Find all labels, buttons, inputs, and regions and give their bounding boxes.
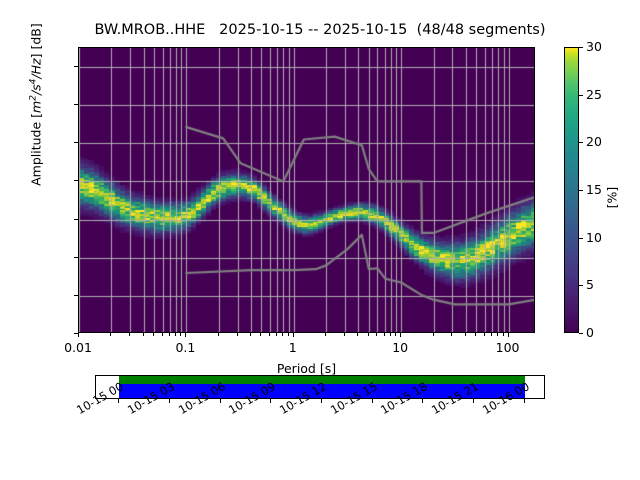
x-tick-mark-minor (497, 333, 498, 336)
x-tick-mark-minor (153, 333, 154, 336)
x-tick-label: 1 (289, 340, 297, 355)
x-tick-mark-minor (484, 333, 485, 336)
x-tick-mark-minor (260, 333, 261, 336)
x-tick-mark-minor (129, 333, 130, 336)
x-tick-mark-minor (475, 333, 476, 336)
x-tick-mark-minor (143, 333, 144, 336)
x-tick-mark-major (400, 333, 401, 337)
x-tick-mark-minor (237, 333, 238, 336)
colorbar-tick-mark (579, 238, 583, 239)
colorbar-tick-mark (579, 333, 583, 334)
x-tick-mark-minor (169, 333, 170, 336)
x-tick-mark-minor (325, 333, 326, 336)
x-tick-mark-minor (465, 333, 466, 336)
timeline-tick-mark (270, 399, 271, 403)
x-tick-mark-minor (218, 333, 219, 336)
colorbar[interactable] (564, 47, 579, 333)
timeline-tick-mark (372, 399, 373, 403)
x-tick-mark-minor (384, 333, 385, 336)
colorbar-tick-label: 30 (586, 39, 602, 54)
ppsd-figure: BW.MROB..HHE 2025-10-15 -- 2025-10-15 (4… (0, 0, 640, 480)
x-tick-mark-major (293, 333, 294, 337)
ppsd-plot-area[interactable] (78, 47, 535, 333)
x-tick-label: 0.01 (64, 340, 92, 355)
x-tick-mark-minor (282, 333, 283, 336)
y-tick-mark (74, 257, 78, 258)
y-tick-mark (74, 66, 78, 67)
x-tick-label: 10 (392, 340, 408, 355)
x-tick-mark-minor (269, 333, 270, 336)
colorbar-tick-label: 25 (586, 87, 602, 102)
y-tick-mark (74, 219, 78, 220)
y-tick-mark (74, 333, 78, 334)
x-tick-mark-minor (110, 333, 111, 336)
y-tick-mark (74, 295, 78, 296)
timeline-tick-mark (169, 399, 170, 403)
noise-model-curves-layer (79, 48, 535, 333)
timeline-tick-mark (321, 399, 322, 403)
x-axis-label: Period [s] (78, 361, 535, 376)
y-axis-label: Amplitude [m2/s4/Hz] [dB] (28, 0, 43, 245)
timeline-tick-mark (220, 399, 221, 403)
colorbar-tick-mark (579, 190, 583, 191)
timeline-tick-mark (118, 399, 119, 403)
colorbar-tick-mark (579, 142, 583, 143)
x-tick-mark-minor (357, 333, 358, 336)
x-tick-mark-minor (395, 333, 396, 336)
colorbar-tick-label: 10 (586, 230, 602, 245)
x-tick-mark-minor (390, 333, 391, 336)
x-tick-mark-minor (276, 333, 277, 336)
x-tick-label: 0.1 (175, 340, 195, 355)
x-tick-mark-minor (288, 333, 289, 336)
colorbar-tick-mark (579, 285, 583, 286)
colorbar-tick-label: 5 (586, 277, 594, 292)
x-tick-mark-major (508, 333, 509, 337)
y-tick-mark (74, 180, 78, 181)
y-tick-mark (74, 142, 78, 143)
x-tick-mark-minor (491, 333, 492, 336)
x-tick-mark-minor (376, 333, 377, 336)
y-tick-mark (74, 104, 78, 105)
x-tick-mark-minor (344, 333, 345, 336)
x-tick-mark-major (185, 333, 186, 337)
x-tick-mark-major (78, 333, 79, 337)
x-tick-mark-minor (433, 333, 434, 336)
colorbar-tick-mark (579, 95, 583, 96)
x-tick-mark-minor (180, 333, 181, 336)
colorbar-tick-label: 0 (586, 325, 594, 340)
x-tick-mark-minor (250, 333, 251, 336)
colorbar-tick-label: 20 (586, 134, 602, 149)
x-tick-label: 100 (496, 340, 520, 355)
x-tick-mark-minor (368, 333, 369, 336)
timeline-tick-mark (524, 399, 525, 403)
colorbar-tick-label: 15 (586, 182, 602, 197)
timeline-tick-mark (422, 399, 423, 403)
page-title: BW.MROB..HHE 2025-10-15 -- 2025-10-15 (4… (0, 22, 640, 38)
x-tick-mark-minor (175, 333, 176, 336)
timeline-tick-mark (473, 399, 474, 403)
x-tick-mark-minor (503, 333, 504, 336)
x-tick-mark-minor (451, 333, 452, 336)
x-tick-mark-minor (162, 333, 163, 336)
colorbar-label: [%] (605, 138, 620, 258)
colorbar-tick-mark (579, 47, 583, 48)
